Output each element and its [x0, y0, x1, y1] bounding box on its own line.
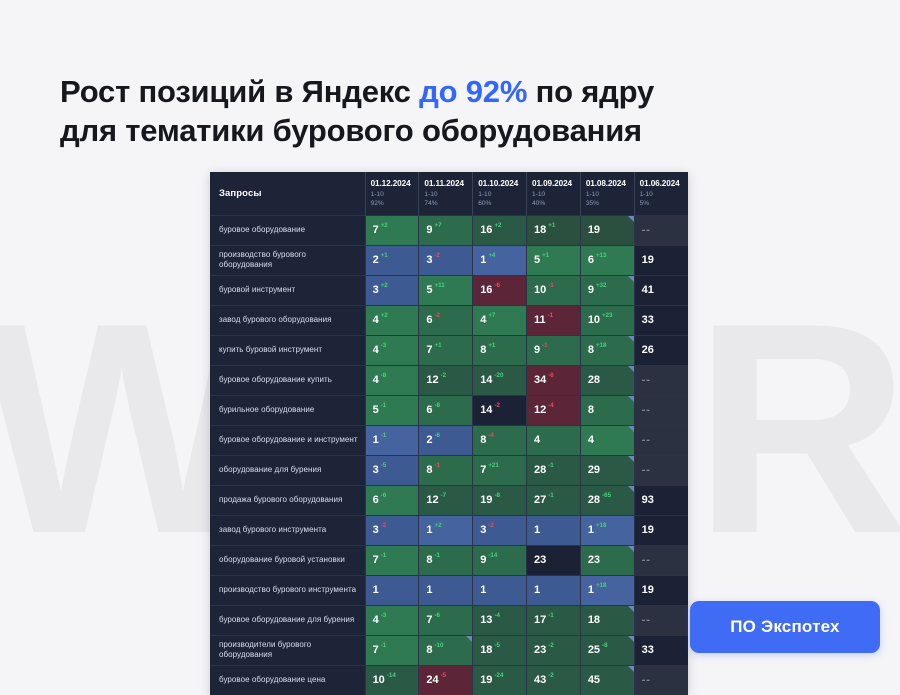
rank-cell: 29 — [580, 455, 634, 485]
rank-value: 1 — [373, 435, 379, 446]
query-cell: завод бурового оборудования — [210, 305, 365, 335]
rank-cell: 43-2 — [527, 665, 581, 695]
rank-value: 4 — [373, 375, 379, 386]
rank-cell-content: -- — [635, 606, 688, 635]
rank-value: 2 — [426, 435, 432, 446]
table-row[interactable]: производство бурового инструмента11111+1… — [210, 575, 688, 605]
column-header-date: 01.11.20241-1074% — [419, 172, 473, 215]
rank-value: 10 — [588, 315, 600, 326]
rank-cell-content: 17-1 — [527, 606, 580, 635]
cell-corner-marker-icon — [466, 636, 472, 642]
rank-delta: -2 — [548, 673, 554, 679]
rank-delta: -1 — [548, 283, 554, 289]
rank-cell-content: 6-6 — [366, 486, 419, 515]
rank-delta: -1 — [548, 493, 554, 499]
rank-cell-content: 27-1 — [527, 486, 580, 515]
title-part-before: Рост позиций в Яндекс — [60, 74, 419, 109]
rank-cell: 9-1 — [527, 335, 581, 365]
rank-delta: -6 — [435, 433, 441, 439]
rank-cell: 2+1 — [365, 245, 419, 275]
cell-corner-marker-icon — [628, 666, 634, 672]
rank-cell-content: 19 — [581, 216, 634, 245]
title-line-two: для тематики бурового оборудования — [60, 113, 642, 148]
rank-cell: 6-6 — [365, 485, 419, 515]
rank-delta: -1 — [435, 463, 441, 469]
rank-value: -- — [642, 615, 651, 626]
rank-cell-content: 1+18 — [581, 516, 634, 545]
column-header-date-label: 01.12.2024 — [371, 179, 414, 188]
cell-corner-marker-icon — [628, 336, 634, 342]
rank-cell: -- — [634, 395, 688, 425]
rank-cell-content: 1 — [527, 576, 580, 605]
table-row[interactable]: буровое оборудование7+29+716+218+119-- — [210, 215, 688, 245]
rank-value: 1 — [534, 585, 540, 596]
rank-cell: 19-8 — [473, 485, 527, 515]
rank-delta: +21 — [488, 463, 499, 469]
rank-delta: -1 — [542, 343, 548, 349]
rank-cell: 24-5 — [419, 665, 473, 695]
rank-cell-content: 34-6 — [527, 366, 580, 395]
rank-cell-content: 18 — [581, 606, 634, 635]
rank-cell-content: 1 — [366, 576, 419, 605]
rank-delta: -1 — [381, 553, 387, 559]
rank-value: 5 — [534, 255, 540, 266]
table-row[interactable]: продажа бурового оборудования6-612-719-8… — [210, 485, 688, 515]
table-row[interactable]: купить буровой инструмент4-37+18+19-18+1… — [210, 335, 688, 365]
rank-cell-content: 19 — [635, 576, 688, 605]
rank-cell-content: 23 — [581, 546, 634, 575]
query-cell: буровое оборудование для бурения — [210, 605, 365, 635]
rank-cell: 6-2 — [419, 305, 473, 335]
column-header-date: 01.06.20241-105% — [634, 172, 688, 215]
rank-value: 18 — [480, 645, 492, 656]
cta-button-expotech[interactable]: ПО Экспотех — [690, 601, 880, 653]
table-row[interactable]: завод бурового инструмента3-21+23-211+18… — [210, 515, 688, 545]
rank-cell-content: 11-1 — [527, 306, 580, 335]
rank-cell-content: 12-2 — [419, 366, 472, 395]
rank-cell: 4 — [580, 425, 634, 455]
rank-delta: +1 — [435, 343, 442, 349]
rank-value: 28 — [588, 495, 600, 506]
rank-cell-content: 33 — [635, 636, 688, 665]
rank-cell-content: 8 — [581, 396, 634, 425]
rank-delta: -24 — [494, 673, 503, 679]
column-header-range: 1-10 — [640, 191, 683, 200]
rank-cell-content: -- — [635, 216, 688, 245]
rank-delta: +11 — [435, 283, 445, 289]
rank-cell-content: 7-1 — [366, 636, 419, 665]
table-header-row: Запросы 01.12.20241-1092%01.11.20241-107… — [210, 172, 688, 215]
rank-value: 7 — [373, 225, 379, 236]
table-head: Запросы 01.12.20241-1092%01.11.20241-107… — [210, 172, 688, 215]
rank-cell: 19 — [580, 215, 634, 245]
rank-cell-content: 41 — [635, 276, 688, 305]
rank-cell-content: 4-3 — [366, 606, 419, 635]
rank-value: 1 — [588, 525, 594, 536]
rank-delta: +7 — [435, 223, 442, 229]
column-header-range-percent: 1-1074% — [424, 191, 467, 209]
rank-cell-content: 4+7 — [473, 306, 526, 335]
rank-value: 6 — [426, 315, 432, 326]
rank-delta: -2 — [381, 523, 387, 529]
rank-value: 1 — [426, 585, 432, 596]
rank-cell: 1 — [473, 575, 527, 605]
rank-cell-content: 19-24 — [473, 666, 526, 695]
rank-value: 41 — [642, 285, 654, 296]
rank-value: 13 — [480, 615, 492, 626]
rank-value: 16 — [480, 285, 492, 296]
rank-cell-content: 7+2 — [366, 216, 419, 245]
rank-cell: 17-1 — [527, 605, 581, 635]
column-header-percent: 74% — [424, 200, 467, 209]
rank-value: 8 — [426, 555, 432, 566]
rank-value: -- — [642, 405, 651, 416]
rank-delta: -2 — [435, 253, 441, 259]
column-header-percent: 40% — [532, 200, 575, 209]
column-header-range-percent: 1-1060% — [478, 191, 521, 209]
rank-value: 18 — [588, 615, 600, 626]
rank-cell: 12-7 — [419, 485, 473, 515]
rank-value: 8 — [426, 645, 432, 656]
rank-delta: -8 — [381, 373, 387, 379]
table-row[interactable]: бурильное оборудование5-16-814-212-48-- — [210, 395, 688, 425]
query-cell: буровое оборудование цена — [210, 665, 365, 695]
rank-cell: 19-24 — [473, 665, 527, 695]
rank-value: 27 — [534, 495, 546, 506]
column-header-date-label: 01.08.2024 — [586, 179, 629, 188]
column-header-queries: Запросы — [210, 172, 365, 215]
rank-value: 6 — [588, 255, 594, 266]
rank-value: 11 — [534, 315, 546, 326]
rank-cell: 8-1 — [419, 455, 473, 485]
rank-value: 1 — [534, 525, 540, 536]
rank-value: 1 — [480, 255, 486, 266]
rank-value: 19 — [588, 225, 600, 236]
rank-cell: 28 — [580, 365, 634, 395]
rank-cell: 93 — [634, 485, 688, 515]
rank-delta: -3 — [381, 613, 387, 619]
rank-cell: 4+7 — [473, 305, 527, 335]
rank-cell-content: 8-1 — [419, 546, 472, 575]
table-row[interactable]: буровой инструмент3+25+1116-610-19+3241 — [210, 275, 688, 305]
rank-cell: 12-4 — [527, 395, 581, 425]
rank-value: 4 — [480, 315, 486, 326]
table-row[interactable]: производители бурового оборудования7-18-… — [210, 635, 688, 665]
rank-cell: 18 — [580, 605, 634, 635]
rank-value: 28 — [534, 465, 546, 476]
rank-value: 12 — [426, 375, 438, 386]
rank-cell: 34-6 — [527, 365, 581, 395]
rank-cell: 12-2 — [419, 365, 473, 395]
rank-delta: -14 — [387, 673, 396, 679]
rank-value: 5 — [426, 285, 432, 296]
rank-value: 1 — [373, 585, 379, 596]
rank-value: 25 — [588, 645, 600, 656]
rank-cell: 8-4 — [473, 425, 527, 455]
rank-delta: -1 — [381, 643, 387, 649]
rank-cell-content: 18-5 — [473, 636, 526, 665]
table-row[interactable]: буровое оборудование цена10-1424-519-244… — [210, 665, 688, 695]
rank-delta: +18 — [596, 523, 607, 529]
rank-value: 6 — [373, 495, 379, 506]
rank-cell-content: 28-1 — [527, 456, 580, 485]
rank-cell: 27-1 — [527, 485, 581, 515]
rank-cell: -- — [634, 215, 688, 245]
rank-cell-content: 6-2 — [419, 306, 472, 335]
rank-delta: -4 — [548, 403, 554, 409]
rank-delta: -6 — [548, 373, 554, 379]
rank-delta: -2 — [548, 643, 554, 649]
rank-cell-content: 33 — [635, 306, 688, 335]
rank-cell-content: 18+1 — [527, 216, 580, 245]
rank-value: 8 — [588, 405, 594, 416]
rank-cell-content: 12-4 — [527, 396, 580, 425]
rank-cell: 4-3 — [365, 335, 419, 365]
page-title: Рост позиций в Яндекс до 92% по ядру для… — [60, 72, 720, 150]
rank-cell: 16-6 — [473, 275, 527, 305]
rank-value: 3 — [480, 525, 486, 536]
rank-value: 7 — [373, 645, 379, 656]
rank-value: 14 — [480, 405, 492, 416]
column-header-range-percent: 1-105% — [640, 191, 683, 209]
rank-cell: 3-2 — [473, 515, 527, 545]
rank-cell-content: 1+4 — [473, 246, 526, 275]
rank-cell-content: 7+1 — [419, 336, 472, 365]
column-header-range: 1-10 — [478, 191, 521, 200]
rank-cell: -- — [634, 665, 688, 695]
rank-delta: -8 — [602, 643, 608, 649]
rank-cell: 7-1 — [365, 635, 419, 665]
rank-value: 18 — [534, 225, 546, 236]
rank-cell-content: 9+7 — [419, 216, 472, 245]
column-header-percent: 35% — [586, 200, 629, 209]
rank-delta: -1 — [435, 553, 441, 559]
column-header-date: 01.08.20241-1035% — [580, 172, 634, 215]
rank-cell-content: 24-5 — [419, 666, 472, 695]
cell-corner-marker-icon — [628, 426, 634, 432]
rank-cell: 4+2 — [365, 305, 419, 335]
rank-cell: 9+7 — [419, 215, 473, 245]
rank-cell-content: -- — [635, 546, 688, 575]
rank-value: 10 — [534, 285, 546, 296]
rank-value: 3 — [373, 285, 379, 296]
rank-cell: 6-8 — [419, 395, 473, 425]
rank-value: 16 — [480, 225, 492, 236]
rank-cell: 13-4 — [473, 605, 527, 635]
rank-delta: -4 — [494, 613, 500, 619]
rank-cell: 1+4 — [473, 245, 527, 275]
rank-cell: 6+13 — [580, 245, 634, 275]
table-row[interactable]: производство бурового оборудования2+13-2… — [210, 245, 688, 275]
rank-value: 17 — [534, 615, 546, 626]
rank-delta: -6 — [381, 493, 387, 499]
query-cell: буровое оборудование — [210, 215, 365, 245]
rank-cell-content: 5+11 — [419, 276, 472, 305]
rank-cell-content: 19-8 — [473, 486, 526, 515]
query-cell: оборудование для бурения — [210, 455, 365, 485]
rank-value: 10 — [373, 675, 385, 686]
rank-cell: 11-1 — [527, 305, 581, 335]
rank-cell-content: 14-20 — [473, 366, 526, 395]
rank-cell-content: 19 — [635, 246, 688, 275]
rank-cell-content: 23-2 — [527, 636, 580, 665]
rank-cell: 1-1 — [365, 425, 419, 455]
rank-delta: +1 — [542, 253, 549, 259]
rank-value: 9 — [588, 285, 594, 296]
rank-delta: +1 — [548, 223, 555, 229]
table-row[interactable]: буровое оборудование купить4-812-214-203… — [210, 365, 688, 395]
rank-cell: 7+1 — [419, 335, 473, 365]
rank-cell-content: 7-6 — [419, 606, 472, 635]
rank-cell-content: 2-6 — [419, 426, 472, 455]
rank-delta: -20 — [494, 373, 503, 379]
rank-value: 7 — [426, 345, 432, 356]
rank-cell-content: 1+18 — [581, 576, 634, 605]
rank-cell: 8+18 — [580, 335, 634, 365]
rank-value: 3 — [373, 525, 379, 536]
rank-cell: 19 — [634, 515, 688, 545]
rank-value: 1 — [426, 525, 432, 536]
rank-value: 8 — [480, 345, 486, 356]
query-cell: производство бурового оборудования — [210, 245, 365, 275]
cell-corner-marker-icon — [628, 366, 634, 372]
rank-value: -- — [642, 675, 651, 686]
rank-cell: 45 — [580, 665, 634, 695]
table-row[interactable]: завод бурового оборудования4+26-24+711-1… — [210, 305, 688, 335]
rank-cell-content: 8-10 — [419, 636, 472, 665]
rank-cell: 2-6 — [419, 425, 473, 455]
rank-cell-content: 43-2 — [527, 666, 580, 695]
rank-value: -- — [642, 555, 651, 566]
rank-delta: +2 — [381, 283, 388, 289]
rank-cell-content: 10+23 — [581, 306, 634, 335]
rank-value: -- — [642, 465, 651, 476]
rank-cell-content: 10-14 — [366, 666, 419, 695]
rank-delta: +1 — [381, 253, 388, 259]
cell-corner-marker-icon — [628, 456, 634, 462]
rank-cell: 5-1 — [365, 395, 419, 425]
column-header-range: 1-10 — [586, 191, 629, 200]
column-header-date: 01.09.20241-1040% — [527, 172, 581, 215]
rank-cell-content: 8-1 — [419, 456, 472, 485]
rank-cell: 23-2 — [527, 635, 581, 665]
rank-cell: 4 — [527, 425, 581, 455]
rank-cell-content: 25-8 — [581, 636, 634, 665]
rank-value: 9 — [426, 225, 432, 236]
rank-cell-content: 29 — [581, 456, 634, 485]
rank-delta: -14 — [488, 553, 497, 559]
rankings-table-container: Запросы 01.12.20241-1092%01.11.20241-107… — [210, 172, 688, 695]
table-row[interactable]: оборудование для бурения3-58-17+2128-129… — [210, 455, 688, 485]
rank-cell: 23 — [580, 545, 634, 575]
column-header-date-label: 01.06.2024 — [640, 179, 683, 188]
rank-cell: 8-10 — [419, 635, 473, 665]
rank-cell-content: 93 — [635, 486, 688, 515]
rank-cell-content: -- — [635, 456, 688, 485]
rank-value: 34 — [534, 375, 546, 386]
rank-value: 9 — [534, 345, 540, 356]
column-header-percent: 60% — [478, 200, 521, 209]
query-cell: буровой инструмент — [210, 275, 365, 305]
rank-cell-content: 28 — [581, 366, 634, 395]
rank-cell-content: 6-8 — [419, 396, 472, 425]
rank-cell: 4-3 — [365, 605, 419, 635]
rank-cell: 1+18 — [580, 575, 634, 605]
rank-cell-content: 3+2 — [366, 276, 419, 305]
rank-value: 6 — [426, 405, 432, 416]
column-header-range: 1-10 — [424, 191, 467, 200]
table-row[interactable]: буровое оборудование для бурения4-37-613… — [210, 605, 688, 635]
rank-cell: 10-14 — [365, 665, 419, 695]
rank-cell-content: 1 — [527, 516, 580, 545]
rank-cell: 8 — [580, 395, 634, 425]
rank-cell: 33 — [634, 635, 688, 665]
rank-cell-content: -- — [635, 426, 688, 455]
rank-cell: -- — [634, 545, 688, 575]
query-cell: оборудование буровой установки — [210, 545, 365, 575]
rank-value: 19 — [642, 525, 654, 536]
rank-value: 28 — [588, 375, 600, 386]
rank-delta: +2 — [435, 523, 442, 529]
rank-delta: +7 — [488, 313, 495, 319]
table-row[interactable]: буровое оборудование и инструмент1-12-68… — [210, 425, 688, 455]
rank-delta: -8 — [435, 403, 441, 409]
cell-corner-marker-icon — [628, 396, 634, 402]
rank-cell: 3-2 — [365, 515, 419, 545]
rank-value: 23 — [588, 555, 600, 566]
rank-cell-content: 5-1 — [366, 396, 419, 425]
rank-cell: -- — [634, 365, 688, 395]
rank-delta: -6 — [494, 283, 500, 289]
rank-delta: -1 — [548, 463, 554, 469]
rank-value: 33 — [642, 315, 654, 326]
rank-cell: 19 — [634, 245, 688, 275]
rank-cell-content: 8+18 — [581, 336, 634, 365]
rank-cell: 7+21 — [473, 455, 527, 485]
rank-value: 9 — [480, 555, 486, 566]
rank-value: 8 — [426, 465, 432, 476]
rank-cell-content: 1 — [473, 576, 526, 605]
rank-value: 23 — [534, 645, 546, 656]
rank-cell: 10-1 — [527, 275, 581, 305]
rank-delta: -5 — [494, 643, 500, 649]
rank-cell: 23 — [527, 545, 581, 575]
rank-delta: -2 — [488, 523, 494, 529]
rank-delta: -3 — [381, 343, 387, 349]
rank-cell-content: 16-6 — [473, 276, 526, 305]
rank-delta: +4 — [488, 253, 495, 259]
rank-value: 45 — [588, 675, 600, 686]
table-row[interactable]: оборудование буровой установки7-18-19-14… — [210, 545, 688, 575]
rank-value: 19 — [642, 585, 654, 596]
rank-value: 93 — [642, 495, 654, 506]
rank-cell-content: 8-4 — [473, 426, 526, 455]
rank-cell-content: 8+1 — [473, 336, 526, 365]
rank-cell-content: 6+13 — [581, 246, 634, 275]
query-cell: бурильное оборудование — [210, 395, 365, 425]
rank-cell: 1 — [365, 575, 419, 605]
rank-value: 1 — [588, 585, 594, 596]
rank-cell: 41 — [634, 275, 688, 305]
rank-delta: -5 — [441, 673, 447, 679]
rank-delta: -2 — [435, 313, 441, 319]
rank-cell-content: 7+21 — [473, 456, 526, 485]
rank-cell: 5+11 — [419, 275, 473, 305]
rank-cell-content: 9-14 — [473, 546, 526, 575]
rank-value: 7 — [480, 465, 486, 476]
rank-value: 12 — [426, 495, 438, 506]
rank-cell-content: 4-8 — [366, 366, 419, 395]
